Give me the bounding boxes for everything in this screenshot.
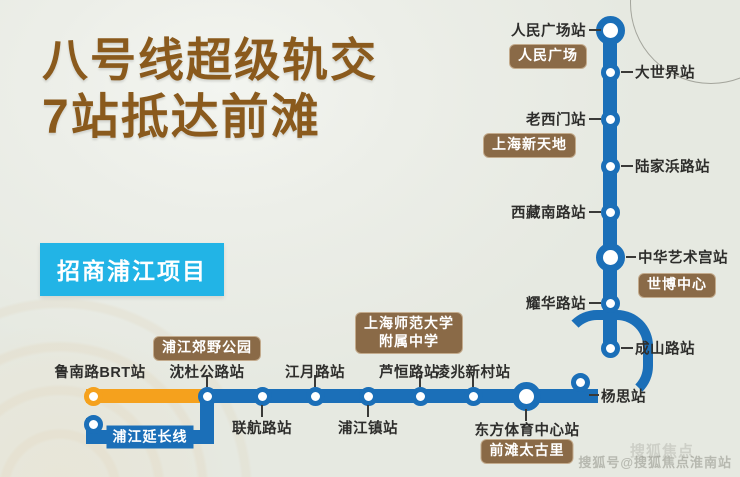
station-label-pujiang-zhen: 浦江镇站 (338, 417, 398, 438)
leader-tick-dashijie (621, 71, 633, 73)
station-dot-lujiabang-lu[interactable] (601, 157, 620, 176)
poi-badge-shibo-zhongxin[interactable]: 世博中心 (638, 273, 716, 298)
station-label-yangsi: 杨思站 (601, 386, 646, 407)
station-dot-dongfang-tiyu[interactable] (512, 382, 541, 411)
station-label-dongfang-tiyu: 东方体育中心站 (475, 419, 580, 440)
station-dot-jiangyue-lu[interactable] (306, 387, 325, 406)
leader-tick-lujiabang-lu (621, 165, 633, 167)
leader-tick-lianhang-lu (261, 405, 263, 417)
poi-badge-qiantan-taikooli[interactable]: 前滩太古里 (481, 439, 574, 464)
project-name-badge[interactable]: 招商浦江项目 (40, 243, 224, 296)
poi-badge-shida-fuzhong-line2: 附属中学 (379, 333, 439, 349)
station-dot-yangsi[interactable] (571, 373, 590, 392)
station-dot-luheng-lu[interactable] (411, 387, 430, 406)
station-label-jiangyue-lu: 江月路站 (285, 361, 345, 382)
station-dot-dashijie[interactable] (601, 63, 620, 82)
station-label-xizang-nan-lu: 西藏南路站 (511, 202, 586, 223)
poi-badge-shida-fuzhong[interactable]: 上海师范大学 附属中学 (355, 312, 463, 354)
poi-badge-pujiang-jiaoye[interactable]: 浦江郊野公园 (153, 336, 261, 361)
station-dot-xizang-nan-lu[interactable] (601, 203, 620, 222)
station-dot-lunan-lu-brt[interactable] (84, 387, 103, 406)
leader-tick-laoximen (589, 118, 601, 120)
leader-tick-chengshan-lu (621, 347, 633, 349)
extension-line-badge[interactable]: 浦江延长线 (107, 426, 194, 449)
poi-badge-shanghai-xintiandi[interactable]: 上海新天地 (483, 133, 576, 158)
leader-tick-yangsi (589, 394, 599, 396)
line-segment-orange-brt (86, 389, 210, 403)
leader-tick-renmin-guangchang (589, 29, 601, 31)
headline-line-2: 7站抵达前滩 (42, 92, 378, 144)
station-label-lunan-lu-brt: 鲁南路BRT站 (54, 361, 145, 382)
station-dot-yaohua-lu[interactable] (601, 294, 620, 313)
station-dot-zhonghua-yishugong[interactable] (596, 243, 625, 272)
station-label-dashijie: 大世界站 (635, 62, 695, 83)
station-dot-chengshan-lu[interactable] (601, 339, 620, 358)
station-label-chengshan-lu: 成山路站 (635, 338, 695, 359)
station-dot-lingzhao-xincun[interactable] (464, 387, 483, 406)
leader-tick-zhonghua-yishugong (626, 256, 636, 258)
metro-line-poster: 八号线超级轨交 7站抵达前滩 招商浦江项目 (0, 0, 740, 477)
station-label-zhonghua-yishugong: 中华艺术宫站 (638, 247, 728, 268)
station-dot-laoximen[interactable] (601, 110, 620, 129)
headline-block: 八号线超级轨交 7站抵达前滩 (42, 36, 378, 144)
station-dot-extension-terminus[interactable] (84, 415, 103, 434)
leader-tick-pujiang-zhen (367, 405, 369, 417)
station-dot-shendu-gonglu[interactable] (198, 387, 217, 406)
poi-badge-renmin-guangchang[interactable]: 人民广场 (509, 44, 587, 69)
station-label-laoximen: 老西门站 (526, 109, 586, 130)
station-dot-lianhang-lu[interactable] (253, 387, 272, 406)
station-label-lingzhao-xincun: 凌兆新村站 (436, 361, 511, 382)
poi-badge-shida-fuzhong-line1: 上海师范大学 (364, 315, 454, 331)
watermark-sohu: 搜狐号@搜狐焦点淮南站 (578, 452, 732, 471)
headline-line-1: 八号线超级轨交 (42, 36, 378, 86)
station-label-shendu-gonglu: 沈杜公路站 (170, 361, 245, 382)
station-label-renmin-guangchang: 人民广场站 (511, 20, 586, 41)
station-label-luheng-lu: 芦恒路站 (379, 361, 439, 382)
leader-tick-xizang-nan-lu (589, 211, 601, 213)
station-label-yaohua-lu: 耀华路站 (526, 293, 586, 314)
leader-tick-yaohua-lu (589, 302, 601, 304)
station-label-lujiabang-lu: 陆家浜路站 (635, 156, 710, 177)
station-dot-pujiang-zhen[interactable] (359, 387, 378, 406)
station-label-lianhang-lu: 联航路站 (232, 417, 292, 438)
